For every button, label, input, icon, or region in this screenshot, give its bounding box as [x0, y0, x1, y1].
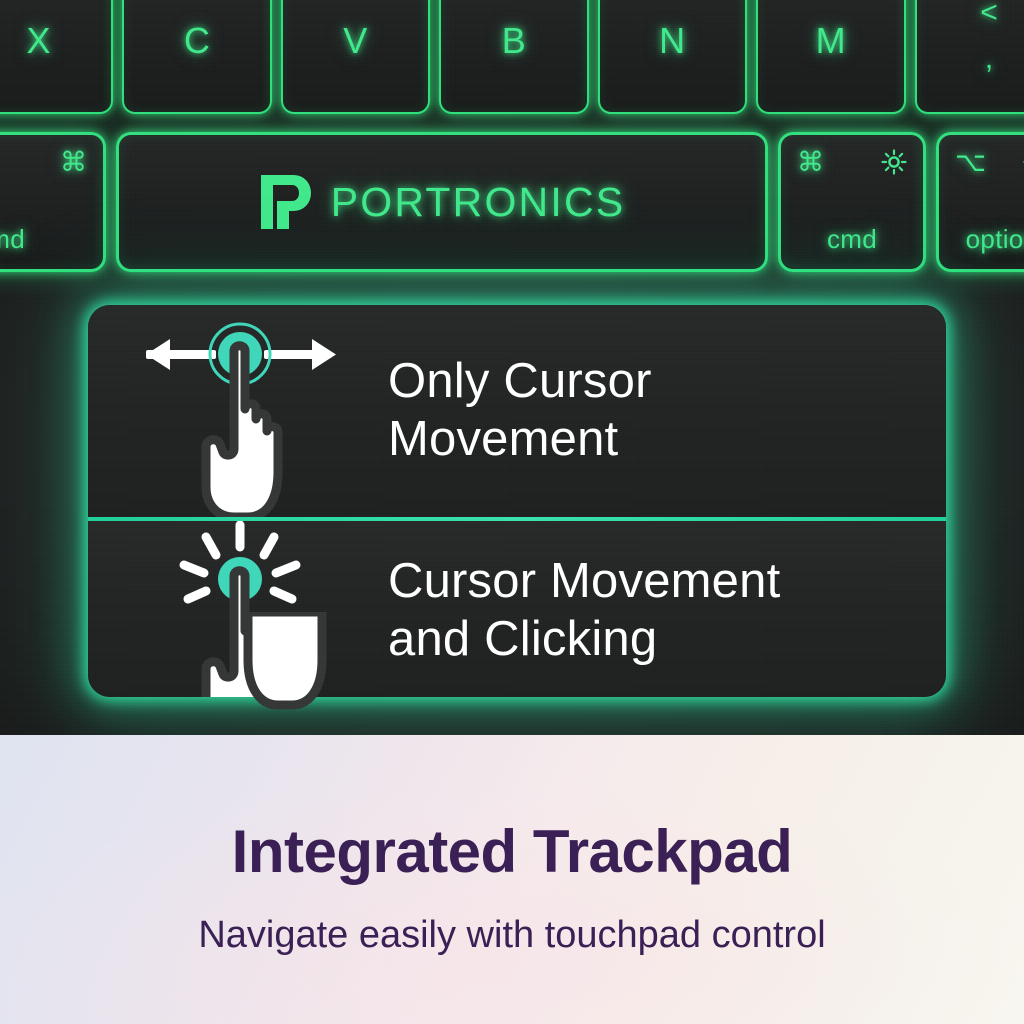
portronics-logo-icon — [259, 173, 313, 231]
key-label-lower: , — [917, 42, 1024, 76]
key-label: cmd — [0, 224, 25, 255]
trackpad-card-cursor-movement: Only Cursor Movement — [88, 305, 946, 517]
key-label: option — [939, 224, 1024, 255]
key-x[interactable]: X — [0, 0, 113, 114]
label-line-2: and Clicking — [388, 611, 780, 669]
key-command-left[interactable]: ⌘ cmd — [0, 132, 106, 272]
key-label: V — [283, 20, 428, 62]
trackpad-card-label: Only Cursor Movement — [388, 353, 672, 469]
key-label: B — [441, 20, 586, 62]
key-label: M — [758, 20, 903, 62]
swipe-gesture-icon — [88, 305, 388, 517]
key-label: N — [600, 20, 745, 62]
tap-click-icon — [88, 521, 388, 697]
page-subtitle: Navigate easily with touchpad control — [198, 914, 825, 957]
keyboard-modifier-row: ⌘ cmd PORTRONICS ⌘ — [0, 132, 1024, 272]
trackpad-card-cursor-clicking: Cursor Movement and Clicking — [88, 521, 946, 697]
key-label-upper: < — [917, 0, 1024, 30]
backlight-icon — [881, 149, 907, 175]
key-option-right[interactable]: ⌥ option — [936, 132, 1024, 272]
key-m[interactable]: M — [756, 0, 905, 114]
key-comma[interactable]: < , — [915, 0, 1024, 114]
option-icon: ⌥ — [955, 149, 986, 176]
key-v[interactable]: V — [281, 0, 430, 114]
caption-block: Integrated Trackpad Navigate easily with… — [0, 735, 1024, 1024]
command-icon: ⌘ — [60, 149, 87, 176]
key-label: cmd — [781, 224, 923, 255]
product-feature-image: X C V B N M < , ⌘ — [0, 0, 1024, 1024]
brand-name: PORTRONICS — [331, 179, 626, 226]
command-icon: ⌘ — [797, 149, 824, 176]
keyboard-letter-row: X C V B N M < , — [0, 0, 1024, 114]
key-spacebar[interactable]: PORTRONICS — [116, 132, 768, 272]
key-command-right[interactable]: ⌘ cmd — [778, 132, 926, 272]
page-title: Integrated Trackpad — [232, 817, 793, 886]
key-n[interactable]: N — [598, 0, 747, 114]
key-c[interactable]: C — [122, 0, 271, 114]
brand-lockup: PORTRONICS — [119, 173, 765, 231]
label-line-1: Cursor Movement — [388, 553, 780, 611]
trackpad[interactable]: Only Cursor Movement — [88, 305, 946, 697]
keyboard-photo: X C V B N M < , ⌘ — [0, 0, 1024, 735]
label-line-2: Movement — [388, 411, 652, 469]
key-label: X — [0, 20, 111, 62]
key-label: C — [124, 20, 269, 62]
trackpad-card-label: Cursor Movement and Clicking — [388, 553, 800, 669]
key-b[interactable]: B — [439, 0, 588, 114]
label-line-1: Only Cursor — [388, 353, 652, 411]
